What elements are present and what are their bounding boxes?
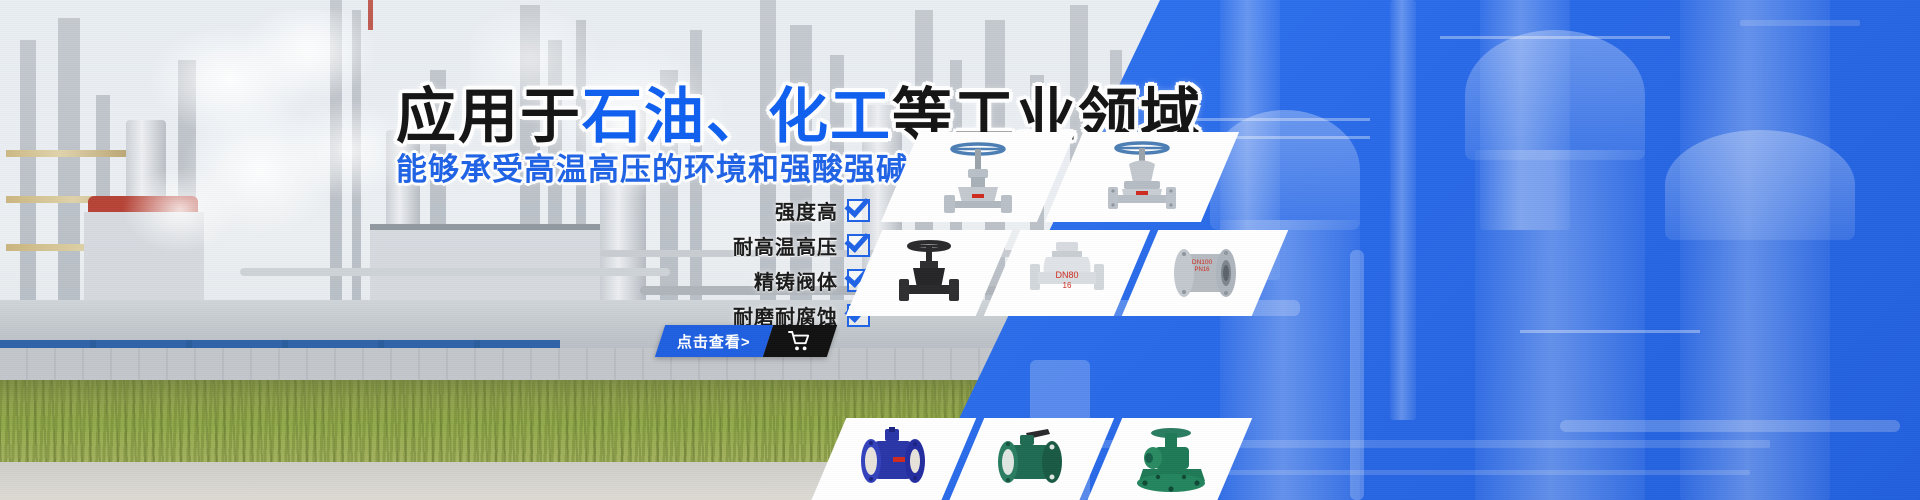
globe-valve-flanged-image: [1094, 139, 1190, 215]
cta-label-area[interactable]: 点击查看>: [655, 325, 773, 357]
ball-valve-green-image: [986, 427, 1076, 495]
shopping-cart-icon: [788, 330, 812, 352]
product-cell[interactable]: [1045, 132, 1239, 222]
cta-button[interactable]: 点击查看>: [655, 325, 837, 357]
svg-text:DN100: DN100: [1192, 259, 1213, 266]
svg-text:16: 16: [1063, 281, 1072, 290]
product-cell[interactable]: [846, 230, 1013, 316]
headline-part-1: 应用于: [396, 83, 582, 150]
cta-label: 点击查看>: [677, 331, 751, 352]
steam-plume: [110, 10, 440, 310]
ball-valve-blue-image: [849, 427, 937, 495]
flange-valve-steel-image: DN100 PN16: [1162, 240, 1248, 306]
product-cell[interactable]: [948, 418, 1115, 500]
check-valve-white-image: DN80 16: [1022, 238, 1112, 308]
product-cell[interactable]: [1086, 418, 1253, 500]
svg-text:DN80: DN80: [1055, 270, 1078, 280]
promo-banner: 应用于石油、化工等工业领域 能够承受高温高压的环境和强酸强碱介质 强度高 耐高温…: [0, 0, 1920, 500]
flange-valve-green-image: [1125, 425, 1213, 497]
product-cell[interactable]: DN80 16: [984, 230, 1151, 316]
product-cell[interactable]: [810, 418, 977, 500]
product-cell[interactable]: DN100 PN16: [1122, 230, 1289, 316]
gate-valve-grey-image: [932, 139, 1024, 215]
gate-valve-black-image: [887, 237, 971, 309]
product-grid: DN80 16 DN100 PN16: [820, 132, 1340, 500]
svg-text:PN16: PN16: [1194, 267, 1210, 273]
product-cell[interactable]: [881, 132, 1075, 222]
